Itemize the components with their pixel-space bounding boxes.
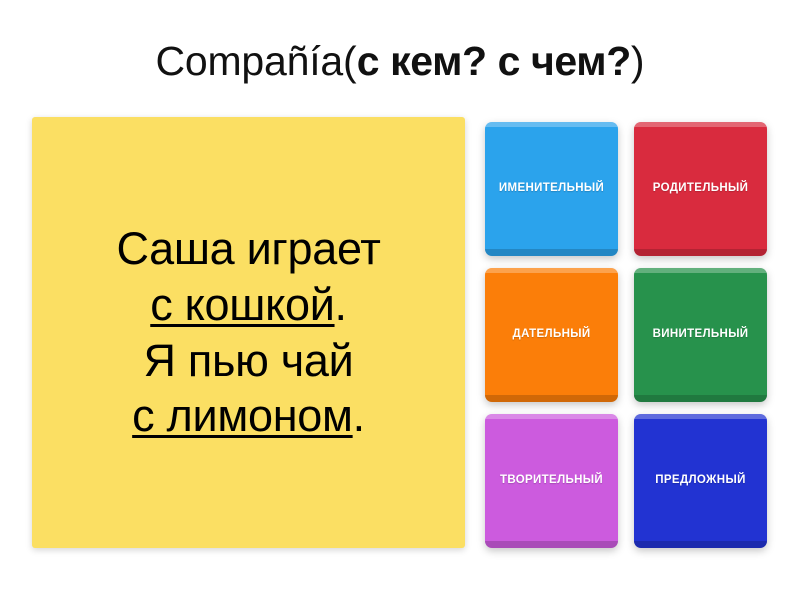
page-title-close-paren: )	[631, 38, 645, 85]
answer-tile-label: ПРЕДЛОЖНЫЙ	[650, 474, 750, 487]
answer-tile-label: ИМЕНИТЕЛЬНЫЙ	[494, 182, 609, 195]
answer-tile-genitive[interactable]: РОДИТЕЛЬНЫЙ	[634, 122, 767, 256]
prompt-line-4-underlined: с лимоном	[132, 390, 352, 441]
answer-tile-prepositional[interactable]: ПРЕДЛОЖНЫЙ	[634, 414, 767, 548]
prompt-line-3-text: Я пью чай	[144, 335, 354, 386]
answer-tile-accusative[interactable]: ВИНИТЕЛЬНЫЙ	[634, 268, 767, 402]
answer-tile-instrumental[interactable]: ТВОРИТЕЛЬНЫЙ	[485, 414, 618, 548]
prompt-line-4-period: .	[353, 390, 365, 441]
answer-tile-label: ВИНИТЕЛЬНЫЙ	[648, 328, 754, 341]
page-title-open-paren: (	[343, 38, 357, 85]
prompt-line-2: с кошкой.	[46, 277, 451, 333]
prompt-text: Саша играет с кошкой. Я пью чай с лимоно…	[46, 221, 451, 444]
prompt-line-1: Саша играет	[46, 221, 451, 277]
answer-tile-nominative[interactable]: ИМЕНИТЕЛЬНЫЙ	[485, 122, 618, 256]
prompt-line-1-text: Саша играет	[116, 223, 380, 274]
prompt-line-2-period: .	[335, 279, 347, 330]
answer-tile-grid: ИМЕНИТЕЛЬНЫЙ РОДИТЕЛЬНЫЙ ДАТЕЛЬНЫЙ ВИНИТ…	[485, 122, 767, 548]
prompt-card: Саша играет с кошкой. Я пью чай с лимоно…	[32, 117, 465, 548]
page-title: Compañía (с кем? с чем?)	[0, 34, 800, 88]
answer-tile-label: ТВОРИТЕЛЬНЫЙ	[495, 474, 608, 487]
answer-tile-dative[interactable]: ДАТЕЛЬНЫЙ	[485, 268, 618, 402]
answer-tile-label: РОДИТЕЛЬНЫЙ	[648, 182, 753, 195]
prompt-line-3: Я пью чай	[46, 333, 451, 389]
prompt-line-2-underlined: с кошкой	[150, 279, 334, 330]
page-title-plain: Compañía	[155, 38, 343, 85]
page-title-question: с кем? с чем?	[357, 38, 631, 85]
prompt-line-4: с лимоном.	[46, 388, 451, 444]
answer-tile-label: ДАТЕЛЬНЫЙ	[508, 328, 596, 341]
